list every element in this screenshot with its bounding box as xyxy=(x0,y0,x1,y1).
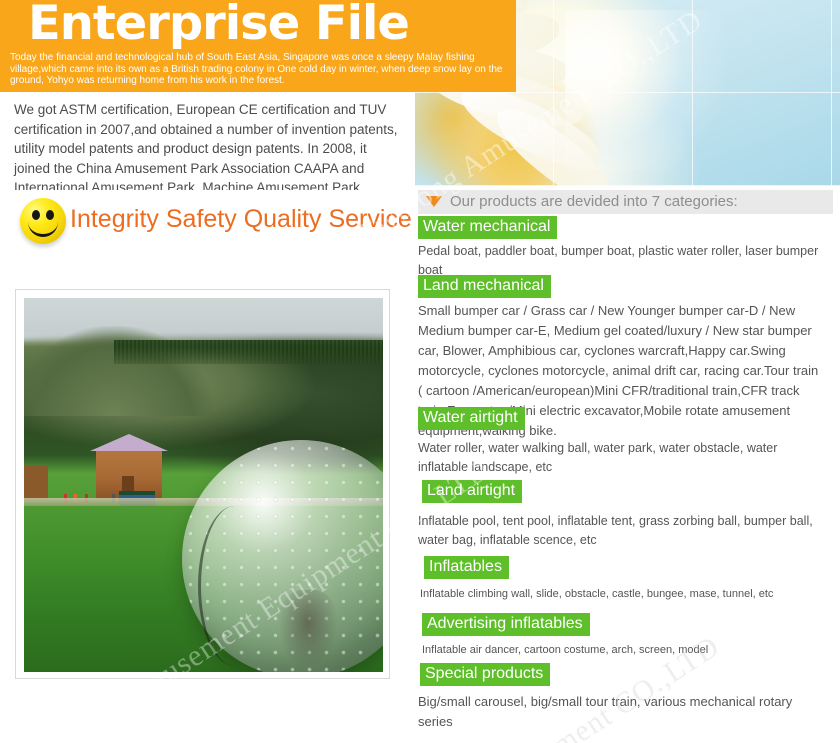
category-badge[interactable]: Advertising inflatables xyxy=(422,613,590,636)
category-items: Inflatable air dancer, cartoon costume, … xyxy=(410,636,834,658)
category-water-airtight[interactable]: Water airtight Water roller, water walki… xyxy=(410,407,840,477)
category-items: Water roller, water walking ball, water … xyxy=(410,430,834,477)
products-header-label: Our products are devided into 7 categori… xyxy=(450,193,738,210)
category-land-airtight[interactable]: Land airtight Inflatable pool, tent pool… xyxy=(410,480,840,550)
treeline-shape xyxy=(114,340,383,364)
certification-box: We got ASTM certification, European CE c… xyxy=(0,92,415,186)
category-badge[interactable]: Special products xyxy=(420,663,550,686)
category-badge[interactable]: Land mechanical xyxy=(418,275,551,298)
category-badge[interactable]: Land airtight xyxy=(422,480,522,503)
category-items: Inflatable pool, tent pool, inflatable t… xyxy=(410,503,834,550)
category-special-products[interactable]: Special products Big/small carousel, big… xyxy=(410,663,840,732)
category-water-mechanical[interactable]: Water mechanical Pedal boat, paddler boa… xyxy=(410,216,840,280)
product-photo-frame xyxy=(15,289,390,679)
second-cabin-shape xyxy=(24,466,48,500)
page-title: Enterprise File xyxy=(28,0,409,50)
category-items: Inflatable climbing wall, slide, obstacl… xyxy=(410,579,834,602)
category-inflatables[interactable]: Inflatables Inflatable climbing wall, sl… xyxy=(410,556,840,602)
zorb-ball xyxy=(182,440,383,672)
products-header: Our products are devided into 7 categori… xyxy=(418,190,833,214)
smiley-face-icon xyxy=(20,198,68,246)
slogan-row: Integrity Safety Quality Service xyxy=(0,190,412,260)
header-subtitle: Today the financial and technological hu… xyxy=(10,52,510,87)
enterprise-file-page: Enterprise File Today the financial and … xyxy=(0,0,840,743)
category-badge[interactable]: Inflatables xyxy=(424,556,509,579)
zorb-ball-photo xyxy=(24,298,383,672)
slogan-text: Integrity Safety Quality Service xyxy=(70,205,412,234)
top-banner-area: Enterprise File Today the financial and … xyxy=(0,0,840,186)
category-badge[interactable]: Water mechanical xyxy=(418,216,557,239)
header-orange-block: Enterprise File Today the financial and … xyxy=(0,0,516,92)
product-categories-panel: Our products are devided into 7 categori… xyxy=(410,190,840,743)
category-badge[interactable]: Water airtight xyxy=(418,407,525,430)
triangle-down-icon xyxy=(426,196,442,207)
category-advertising-inflatables[interactable]: Advertising inflatables Inflatable air d… xyxy=(410,613,840,658)
category-items: Big/small carousel, big/small tour train… xyxy=(410,686,834,732)
category-items: Pedal boat, paddler boat, bumper boat, p… xyxy=(410,239,834,280)
